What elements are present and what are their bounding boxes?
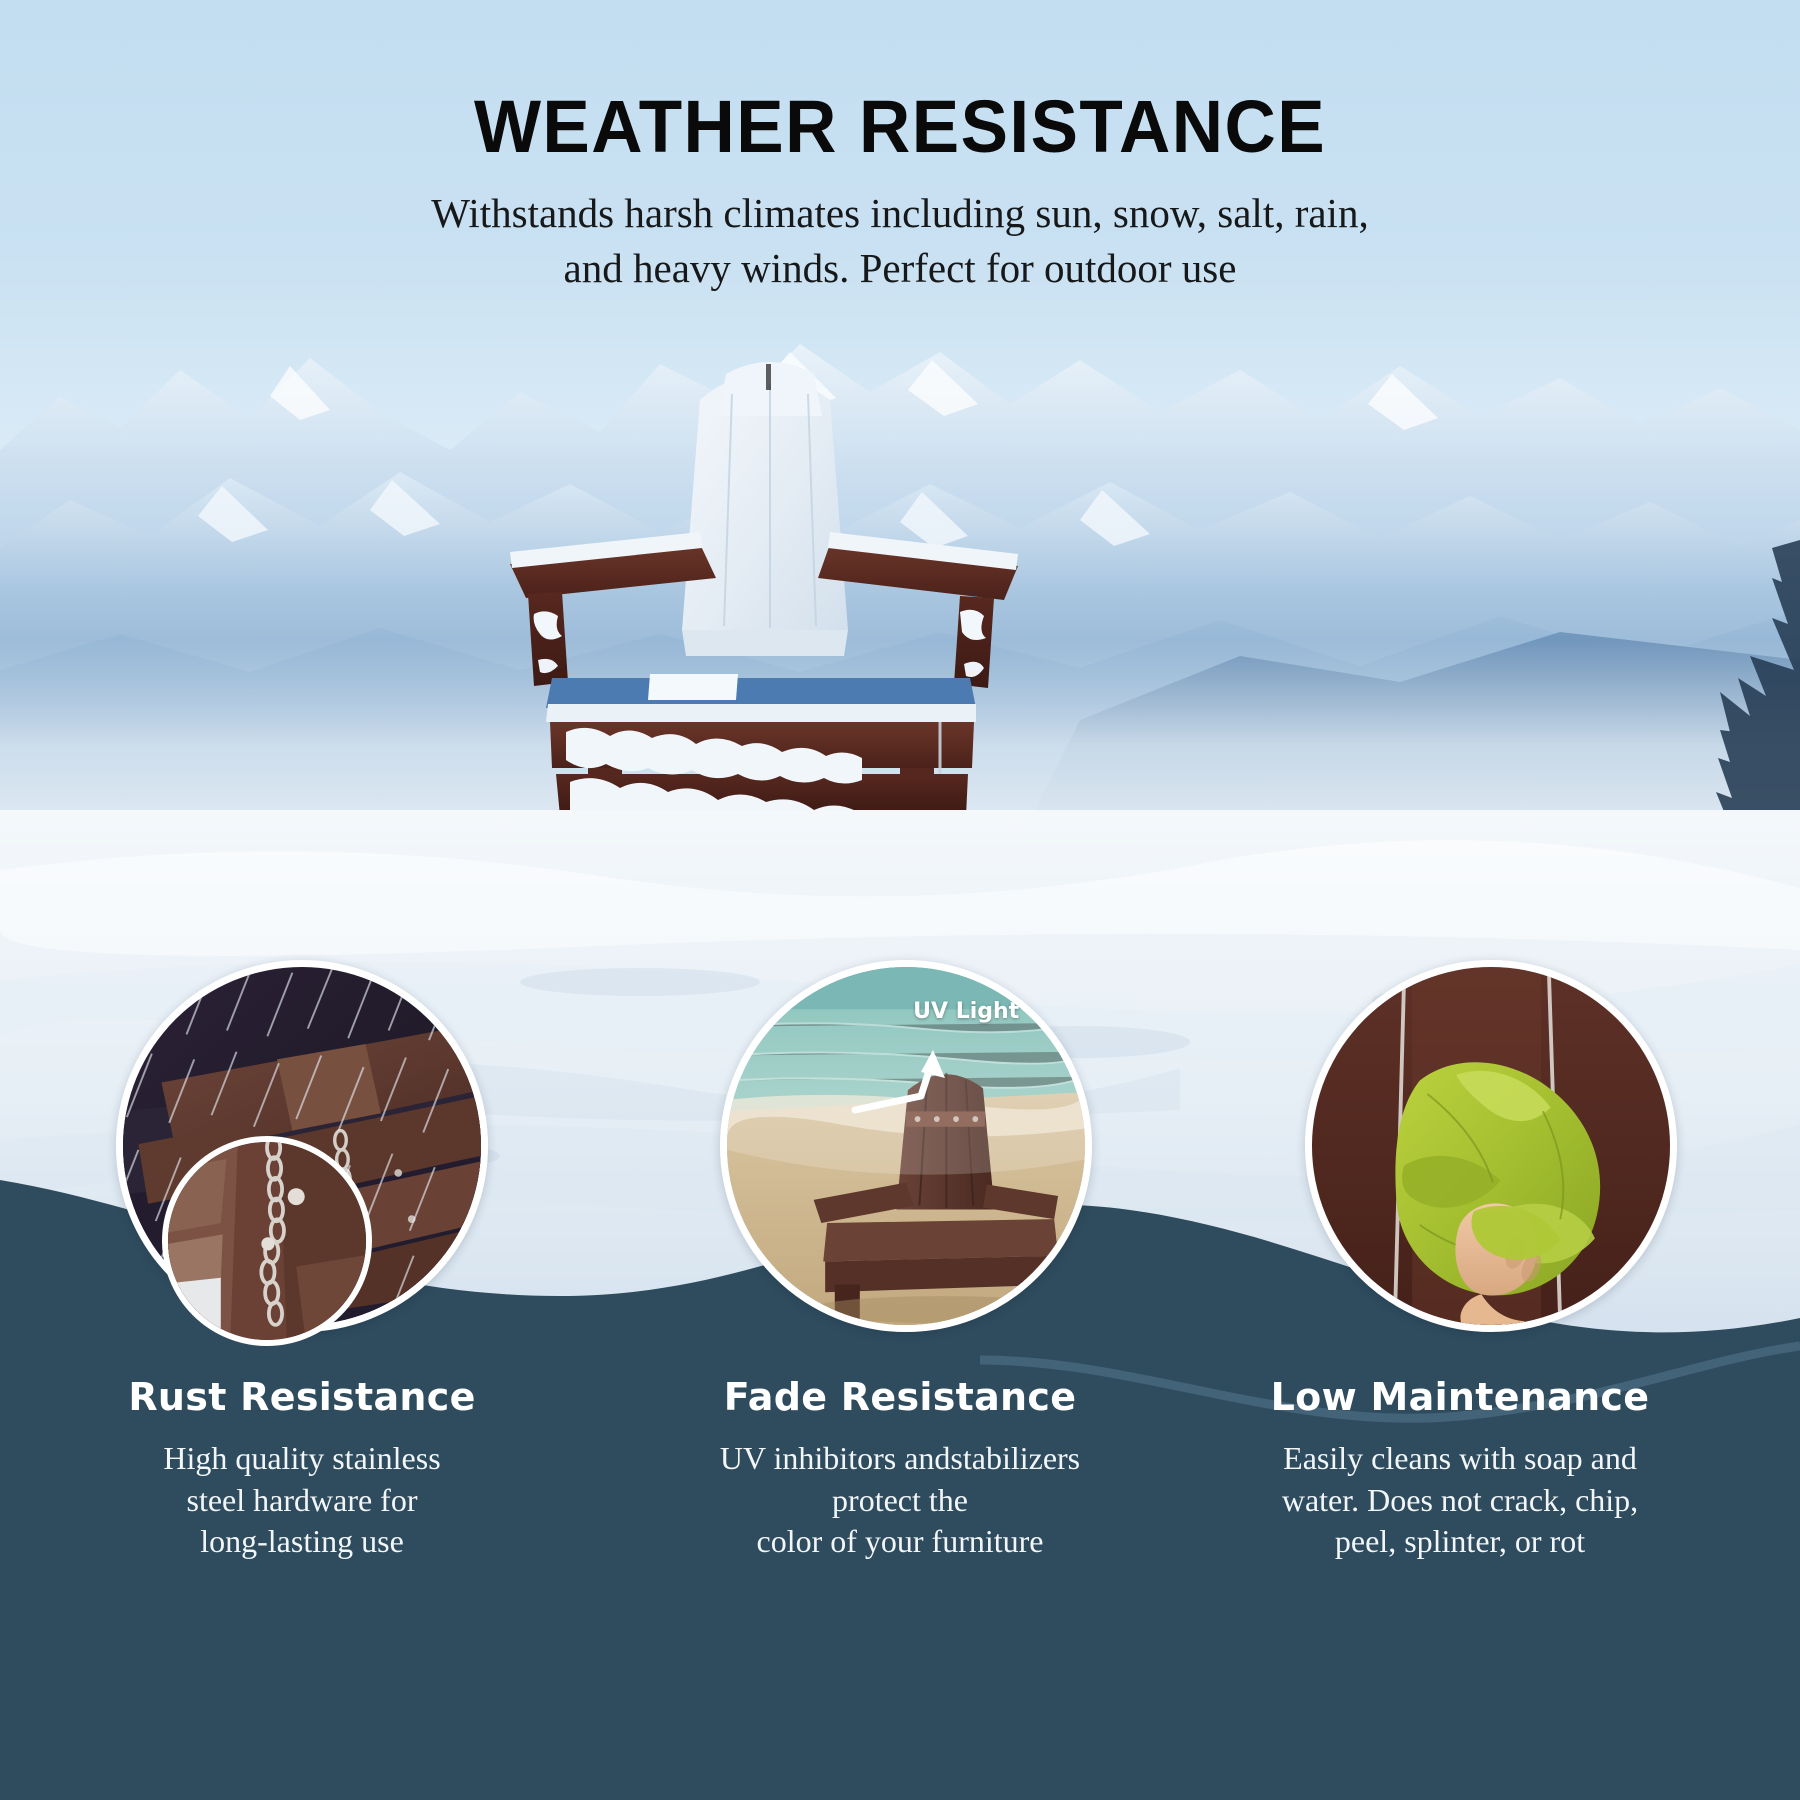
fade-resistance-photo[interactable]: UV Light bbox=[720, 960, 1092, 1332]
body-line: protect the bbox=[620, 1480, 1180, 1522]
beach-chair-image bbox=[727, 967, 1085, 1325]
low-maintenance-photo[interactable] bbox=[1305, 960, 1677, 1332]
body-line: High quality stainless bbox=[22, 1438, 582, 1480]
rust-resistance-inset-photo[interactable] bbox=[162, 1136, 372, 1346]
body-line: water. Does not crack, chip, bbox=[1180, 1480, 1740, 1522]
page-title: WEATHER RESISTANCE bbox=[36, 84, 1764, 169]
body-line: color of your furniture bbox=[620, 1521, 1180, 1563]
body-line: steel hardware for bbox=[22, 1480, 582, 1522]
uv-light-arrow-icon bbox=[849, 1046, 969, 1138]
feature-body-rust-resistance: High quality stainless steel hardware fo… bbox=[22, 1438, 582, 1563]
body-line: UV inhibitors andstabilizers bbox=[620, 1438, 1180, 1480]
subtitle-line-1: Withstands harsh climates including sun,… bbox=[310, 186, 1490, 241]
feature-cards: Rust Resistance High quality stainless s… bbox=[0, 960, 1800, 1760]
uv-light-annotation: UV Light bbox=[913, 999, 1019, 1024]
feature-title-fade-resistance: Fade Resistance bbox=[620, 1375, 1180, 1419]
infographic-canvas: WEATHER RESISTANCE Withstands harsh clim… bbox=[0, 0, 1800, 1800]
body-line: peel, splinter, or rot bbox=[1180, 1521, 1740, 1563]
body-line: long-lasting use bbox=[22, 1521, 582, 1563]
feature-body-low-maintenance: Easily cleans with soap and water. Does … bbox=[1180, 1438, 1740, 1563]
stainless-chain-closeup bbox=[168, 1142, 366, 1340]
body-line: Easily cleans with soap and bbox=[1180, 1438, 1740, 1480]
page-subtitle: Withstands harsh climates including sun,… bbox=[310, 186, 1490, 296]
subtitle-line-2: and heavy winds. Perfect for outdoor use bbox=[310, 241, 1490, 296]
feature-title-rust-resistance: Rust Resistance bbox=[22, 1375, 582, 1419]
feature-body-fade-resistance: UV inhibitors andstabilizers protect the… bbox=[620, 1438, 1180, 1563]
cloth-wiping-image bbox=[1312, 967, 1670, 1325]
feature-title-low-maintenance: Low Maintenance bbox=[1180, 1375, 1740, 1419]
